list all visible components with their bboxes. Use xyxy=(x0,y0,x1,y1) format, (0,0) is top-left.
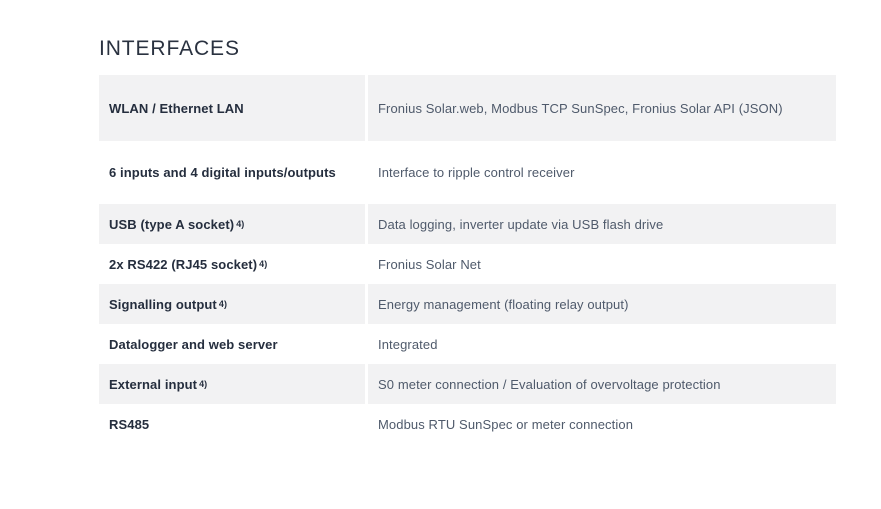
spec-label-cell: External input4) xyxy=(99,364,365,404)
spec-label-text: 6 inputs and 4 digital inputs/outputs xyxy=(109,163,336,182)
spec-label-text: RS485 xyxy=(109,415,149,434)
table-row: Signalling output4)Energy management (fl… xyxy=(99,284,836,324)
spec-label-cell: RS485 xyxy=(99,404,365,444)
spec-label-text: 2x RS422 (RJ45 socket) xyxy=(109,255,257,274)
table-row: External input4)S0 meter connection / Ev… xyxy=(99,364,836,404)
table-row: USB (type A socket)4)Data logging, inver… xyxy=(99,204,836,244)
spec-label-cell: 6 inputs and 4 digital inputs/outputs xyxy=(99,141,365,204)
spec-value-text: Modbus RTU SunSpec or meter connection xyxy=(378,414,633,435)
spec-value-cell: Fronius Solar Net xyxy=(368,244,836,284)
spec-value-cell: Data logging, inverter update via USB fl… xyxy=(368,204,836,244)
spec-value-cell: Integrated xyxy=(368,324,836,364)
spec-value-cell: Fronius Solar.web, Modbus TCP SunSpec, F… xyxy=(368,75,836,141)
page-title: INTERFACES xyxy=(99,36,240,62)
table-row: 2x RS422 (RJ45 socket)4)Fronius Solar Ne… xyxy=(99,244,836,284)
spec-value-cell: Modbus RTU SunSpec or meter connection xyxy=(368,404,836,444)
spec-label-text: WLAN / Ethernet LAN xyxy=(109,99,244,118)
spec-value-text: Data logging, inverter update via USB fl… xyxy=(378,214,663,235)
spec-value-text: Fronius Solar.web, Modbus TCP SunSpec, F… xyxy=(378,98,783,119)
spec-value-text: Energy management (floating relay output… xyxy=(378,294,629,315)
spec-label-text: External input xyxy=(109,375,197,394)
spec-value-cell: S0 meter connection / Evaluation of over… xyxy=(368,364,836,404)
spec-label-text: Datalogger and web server xyxy=(109,335,278,354)
table-row: WLAN / Ethernet LANFronius Solar.web, Mo… xyxy=(99,75,836,141)
spec-value-text: Fronius Solar Net xyxy=(378,254,481,275)
spec-label-cell: WLAN / Ethernet LAN xyxy=(99,75,365,141)
interfaces-spec-table: WLAN / Ethernet LANFronius Solar.web, Mo… xyxy=(99,75,836,444)
spec-value-text: Integrated xyxy=(378,334,438,355)
table-row: Datalogger and web serverIntegrated xyxy=(99,324,836,364)
table-row: 6 inputs and 4 digital inputs/outputsInt… xyxy=(99,141,836,204)
spec-label-cell: Signalling output4) xyxy=(99,284,365,324)
spec-label-cell: Datalogger and web server xyxy=(99,324,365,364)
spec-value-cell: Energy management (floating relay output… xyxy=(368,284,836,324)
spec-value-cell: Interface to ripple control receiver xyxy=(368,141,836,204)
specification-page: INTERFACES WLAN / Ethernet LANFronius So… xyxy=(0,0,881,509)
spec-value-text: S0 meter connection / Evaluation of over… xyxy=(378,374,721,395)
table-row: RS485Modbus RTU SunSpec or meter connect… xyxy=(99,404,836,444)
spec-label-text: Signalling output xyxy=(109,295,217,314)
spec-label-cell: 2x RS422 (RJ45 socket)4) xyxy=(99,244,365,284)
spec-label-cell: USB (type A socket)4) xyxy=(99,204,365,244)
spec-value-text: Interface to ripple control receiver xyxy=(378,162,575,183)
spec-label-text: USB (type A socket) xyxy=(109,215,234,234)
